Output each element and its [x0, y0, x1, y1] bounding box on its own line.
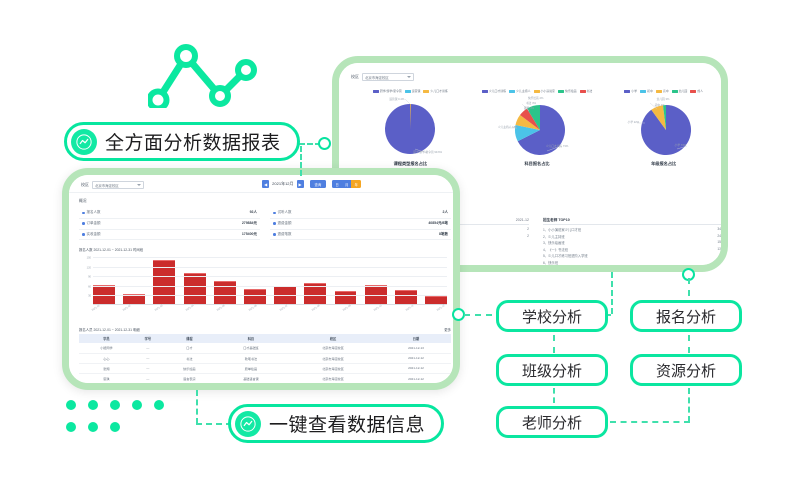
- table-cell: 张翔: [79, 363, 134, 373]
- chevron-down-icon: [137, 184, 141, 186]
- pie-leader-label: 少儿口才训练 73%: [546, 144, 568, 148]
- next-month-button[interactable]: ▶: [297, 180, 304, 188]
- chart-bars[interactable]: [93, 257, 447, 305]
- stat-item: 退费金额40854元/8笔: [270, 219, 451, 230]
- pie-title: 课程类型报名占比: [394, 161, 428, 167]
- date-navigator[interactable]: ◀ 2021年12月 ▶ 查询 日 月 年: [262, 180, 361, 188]
- chart-y-tick: 30: [88, 295, 91, 298]
- chart-y-tick: 150: [87, 257, 91, 260]
- stat-label: 退费金额: [273, 221, 292, 226]
- table-row[interactable]: 心心—书法软笔书法北京市海淀校区2021-12-12: [79, 353, 451, 363]
- connector-line: [688, 335, 690, 353]
- chart-y-tick: 120: [87, 266, 91, 269]
- pie-title: 科目报名占比: [524, 161, 549, 167]
- table-cell: 心心: [79, 353, 134, 363]
- campus-filter-top[interactable]: 校区 北京市海淀校区: [351, 73, 414, 81]
- chart-gridline: 120: [93, 267, 447, 268]
- period-segmented-control[interactable]: 日 月 年: [332, 180, 361, 188]
- connector-line: [610, 421, 690, 423]
- campus-select-bottom[interactable]: 北京市海淀校区: [92, 181, 144, 189]
- stat-label: 退费笔数: [273, 232, 292, 237]
- pie-leader-label: 小学 22%: [628, 120, 640, 124]
- pie-chart-grade: 小学 初中 高中 幼儿园 成人: [600, 89, 727, 167]
- pill-teacher[interactable]: 老师分析: [496, 406, 608, 438]
- stat-value: 40854元/8笔: [428, 221, 448, 226]
- chart-x-tick: 2021-04: [185, 304, 198, 317]
- pie-leader-label: 运营课 0.4%: [389, 97, 404, 101]
- table-cell: 快乐绘画: [162, 363, 217, 373]
- chart-bar[interactable]: [395, 290, 417, 304]
- table-cell: 口才: [162, 343, 217, 353]
- table-cell: 北京市海淀校区: [285, 353, 381, 363]
- chart-x-tick: 2021-01: [91, 304, 104, 317]
- dot-grid-decoration: [66, 400, 176, 444]
- caption-onekey[interactable]: 一键查看数据信息: [228, 404, 444, 443]
- table-cell: —: [134, 353, 162, 363]
- stat-value: 279884元: [242, 221, 257, 226]
- connector-line: [688, 388, 690, 422]
- chart-y-tick: 90: [88, 276, 91, 279]
- ranking-period: 2021-12: [516, 218, 529, 223]
- screenshot-root: 校区 北京市海淀校区 研学/游学/夏令营 运营课 少儿口才训练: [0, 0, 800, 500]
- pie-legend[interactable]: 少儿口才训练 少儿主持人 小小演说家 快乐绘画 书法: [482, 89, 593, 93]
- table-column-header: 校区: [285, 334, 381, 343]
- caption-onekey-label: 一键查看数据信息: [269, 410, 425, 437]
- table-column-header: 课程: [162, 334, 217, 343]
- pill-school[interactable]: 学校分析: [496, 300, 608, 332]
- chart-gridline: 30: [93, 295, 447, 296]
- campus-filter-bottom[interactable]: 校区 北京市海淀校区: [81, 181, 144, 189]
- pie-chart-subject: 少儿口才训练 少儿主持人 小小演说家 快乐绘画 书法: [474, 89, 601, 167]
- stat-value: 2人: [443, 210, 448, 215]
- chart-x-tick: 2021-02: [123, 304, 136, 317]
- legend-item: 少儿口才训练: [482, 89, 506, 93]
- chart-gridline: 150: [93, 257, 447, 258]
- table-cell: 基础语言课: [217, 373, 285, 383]
- table-cell: 2021-12-12: [381, 363, 451, 373]
- legend-item: 小学: [624, 89, 637, 93]
- table-header-row: 学员学号课程科目校区日期: [79, 334, 451, 343]
- ranking-list-teacher: 招生老师 TOP10 1、小小演说家少儿口才班342、少儿主持班243、快乐绘画…: [543, 218, 721, 272]
- pie-leader-label: 幼儿园 3%: [657, 97, 670, 101]
- stat-value: 92人: [250, 210, 257, 215]
- segment-month[interactable]: 月: [342, 180, 352, 188]
- table-cell: 语言表演: [162, 373, 217, 383]
- table-row[interactable]: 思琪—语言表演基础语言课北京市海淀校区2021-12-12: [79, 373, 451, 383]
- legend-item: 快乐绘画: [558, 89, 577, 93]
- line-chart-icon: [148, 28, 258, 108]
- chart-x-tick: 2021-09: [342, 304, 355, 317]
- connector-line: [196, 390, 198, 424]
- table-cell: 北京市海淀校区: [285, 373, 381, 383]
- legend-item: 少儿口才训练: [423, 89, 447, 93]
- chart-x-tick: 2021-12: [436, 304, 449, 317]
- segment-year[interactable]: 年: [351, 180, 361, 188]
- ranking-row: 2、少儿主持班24: [543, 232, 721, 239]
- stat-label: 订单金额: [82, 221, 101, 226]
- pie-legend[interactable]: 小学 初中 高中 幼儿园 成人: [624, 89, 703, 93]
- chart-gridline: 90: [93, 276, 447, 277]
- stat-item: 报名人数92人: [79, 208, 260, 219]
- chart-bar[interactable]: [184, 273, 206, 304]
- table-caption: 报名人员 2021-12-01 ~ 2021-12-31 明细: [79, 327, 140, 332]
- pie-leader-label: 初中 2%: [655, 103, 665, 107]
- detail-table: 报名人员 2021-12-01 ~ 2021-12-31 明细 更多 学员学号课…: [79, 327, 451, 384]
- table-cell: 北京市海淀校区: [285, 343, 381, 353]
- connector-line: [464, 314, 492, 316]
- table-cell: 愿单绘画: [217, 363, 285, 373]
- legend-item: 研学/游学/夏令营: [373, 89, 402, 93]
- pie-graphic: 幼儿园 3% 初中 2% 小学 22% 小学 73%: [629, 97, 699, 159]
- connector-line: [611, 272, 613, 314]
- table-cell: 书法: [162, 353, 217, 363]
- table-cell: 小能同学: [79, 343, 134, 353]
- segment-day[interactable]: 日: [332, 180, 342, 188]
- legend-item: 书法: [580, 89, 593, 93]
- ranking-row: 7、绘画班3: [543, 265, 721, 272]
- pill-resource[interactable]: 资源分析: [630, 354, 742, 386]
- table-cell: 北京市海淀校区: [285, 363, 381, 373]
- wave-circle-icon: [235, 411, 261, 437]
- pie-leader-label: 硬笔 4%: [524, 106, 534, 110]
- chart-bar[interactable]: [214, 281, 236, 305]
- ranking-rows: 1、小小演说家少儿口才班342、少儿主持班243、快乐绘画班154、《一》书法班…: [543, 225, 721, 272]
- table-cell: 软笔书法: [217, 353, 285, 363]
- pill-signup[interactable]: 报名分析: [630, 300, 742, 332]
- stats-grid: 报名人数92人试听人数2人订单金额279884元退费金额40854元/8笔实收金…: [79, 208, 451, 240]
- legend-item: 小小演说家: [534, 89, 555, 93]
- pie-leader-label: 书法 3%: [526, 101, 536, 105]
- ranking-row: 5、少儿口才练习班进阶入学班8: [543, 252, 721, 259]
- chart-x-tick: 2021-10: [373, 304, 386, 317]
- chart-bar[interactable]: [244, 289, 266, 304]
- legend-item: 成人: [690, 89, 703, 93]
- stat-label: 报名人数: [82, 210, 101, 215]
- stat-item: 试听人数2人: [270, 208, 451, 219]
- stat-value: 8笔数: [439, 232, 448, 237]
- campus-select-value: 北京市海淀校区: [95, 183, 119, 188]
- table-cell: —: [134, 363, 162, 373]
- chart-caption: 报名人数 2021-12-01 ~ 2021-12-31 时间段: [79, 247, 143, 252]
- chart-x-tick: 2021-11: [405, 304, 418, 317]
- chart-bar[interactable]: [93, 285, 115, 304]
- pie-graphic: 运营课 0.4% 研学/游学/夏令营 99.6%: [375, 97, 445, 159]
- table-column-header: 日期: [381, 334, 451, 343]
- table-cell: 思琪: [79, 373, 134, 383]
- connector-node: [318, 137, 331, 150]
- connector-line: [553, 335, 555, 353]
- table-cell: 口才基础班: [217, 343, 285, 353]
- chart-bar[interactable]: [425, 296, 447, 304]
- chart-x-tick: 2021-07: [279, 304, 292, 317]
- pie-chart-course-type: 研学/游学/夏令营 运营课 少儿口才训练 运营课 0.4% 研学/游学/夏令营 …: [347, 89, 474, 167]
- ranking-title: 招生老师 TOP10: [543, 218, 570, 223]
- wave-circle-icon: [71, 129, 97, 155]
- pie-leader-label: 研学/游学/夏令营 99.6%: [413, 150, 442, 154]
- prev-month-button[interactable]: ◀: [262, 180, 269, 188]
- chart-x-tick: 2021-03: [154, 304, 167, 317]
- legend-item: 运营课: [405, 89, 421, 93]
- table-row[interactable]: 小能同学—口才口才基础班北京市海淀校区2021-12-13: [79, 343, 451, 353]
- stat-item: 退费笔数8笔数: [270, 230, 451, 241]
- table-row[interactable]: 张翔—快乐绘画愿单绘画北京市海淀校区2021-12-12: [79, 363, 451, 373]
- connector-line: [553, 388, 555, 403]
- ranking-row: 4、《一》书法班13: [543, 245, 721, 252]
- current-month-label: 2021年12月: [271, 181, 294, 187]
- caption-analysis-label: 全方面分析数据报表: [105, 128, 281, 155]
- connector-line: [196, 423, 232, 425]
- stat-item: 实收金额175400元: [79, 230, 260, 241]
- legend-item: 幼儿园: [672, 89, 688, 93]
- pie-chart-row: 研学/游学/夏令营 运营课 少儿口才训练 运营课 0.4% 研学/游学/夏令营 …: [347, 89, 727, 167]
- table-column-header: 科目: [217, 334, 285, 343]
- table-body: 小能同学—口才口才基础班北京市海淀校区2021-12-13心心—书法软笔书法北京…: [79, 343, 451, 383]
- campus-select-top[interactable]: 北京市海淀校区: [362, 73, 414, 81]
- pie-legend[interactable]: 研学/游学/夏令营 运营课 少儿口才训练: [373, 89, 448, 93]
- pie-graphic: 快乐绘画 2% 书法 3% 硬笔 4% 少儿主持人 18% 少儿口才训练 73%: [502, 97, 572, 159]
- table: 学员学号课程科目校区日期 小能同学—口才口才基础班北京市海淀校区2021-12-…: [79, 334, 451, 384]
- table-cell: —: [134, 343, 162, 353]
- chart-bar[interactable]: [335, 291, 357, 304]
- legend-item: 高中: [656, 89, 669, 93]
- table-cell: 2021-12-12: [381, 353, 451, 363]
- table-more-link[interactable]: 更多: [444, 327, 451, 332]
- stat-label: 实收金额: [82, 232, 101, 237]
- connector-line: [300, 146, 302, 176]
- campus-filter-label: 校区: [81, 182, 89, 188]
- ranking-row: 3、快乐绘画班15: [543, 239, 721, 246]
- chart-x-tick: 2021-08: [311, 304, 324, 317]
- pie-leader-label: 小学 73%: [675, 143, 687, 147]
- stat-label: 试听人数: [273, 210, 292, 215]
- bar-chart: 报名人数 2021-12-01 ~ 2021-12-31 时间段 1501209…: [79, 253, 451, 315]
- table-cell: 2021-12-12: [381, 373, 451, 383]
- chevron-down-icon: [407, 76, 411, 78]
- table-cell: 2021-12-13: [381, 343, 451, 353]
- stat-item: 订单金额279884元: [79, 219, 260, 230]
- legend-item: 初中: [640, 89, 653, 93]
- pie-title: 年级报名占比: [651, 161, 676, 167]
- table-column-header: 学号: [134, 334, 162, 343]
- table-caption-row: 报名人员 2021-12-01 ~ 2021-12-31 明细 更多: [79, 327, 451, 332]
- overview-section-title: 概况: [79, 199, 87, 204]
- campus-select-value: 北京市海淀校区: [365, 75, 389, 80]
- stat-value: 175400元: [242, 232, 257, 237]
- table-column-header: 学员: [79, 334, 134, 343]
- legend-item: 少儿主持人: [509, 89, 530, 93]
- chart-y-tick: 60: [88, 285, 91, 288]
- chart-x-axis-labels: 2021-012021-022021-032021-042021-052021-…: [93, 306, 447, 315]
- dashboard-window-overview[interactable]: 校区 北京市海淀校区 ◀ 2021年12月 ▶ 查询 日 月 年 概况 报名人数…: [62, 168, 460, 390]
- ranking-row: 1、小小演说家少儿口才班34: [543, 225, 721, 232]
- pill-class[interactable]: 班级分析: [496, 354, 608, 386]
- connector-line: [688, 278, 690, 296]
- ranking-row: 6、快乐班3: [543, 258, 721, 265]
- caption-analysis[interactable]: 全方面分析数据报表: [64, 122, 300, 161]
- chart-x-tick: 2021-06: [248, 304, 261, 317]
- pie-leader-label: 快乐绘画 2%: [528, 96, 543, 100]
- campus-filter-label: 校区: [351, 74, 359, 80]
- table-cell: —: [134, 373, 162, 383]
- chart-plot-area: 150120906030: [93, 257, 447, 305]
- pie-leader-label: 少儿主持人 18%: [498, 125, 518, 129]
- search-button[interactable]: 查询: [310, 180, 327, 188]
- chart-x-tick: 2021-05: [217, 304, 230, 317]
- chart-gridline: 60: [93, 286, 447, 287]
- chart-bar[interactable]: [365, 285, 387, 304]
